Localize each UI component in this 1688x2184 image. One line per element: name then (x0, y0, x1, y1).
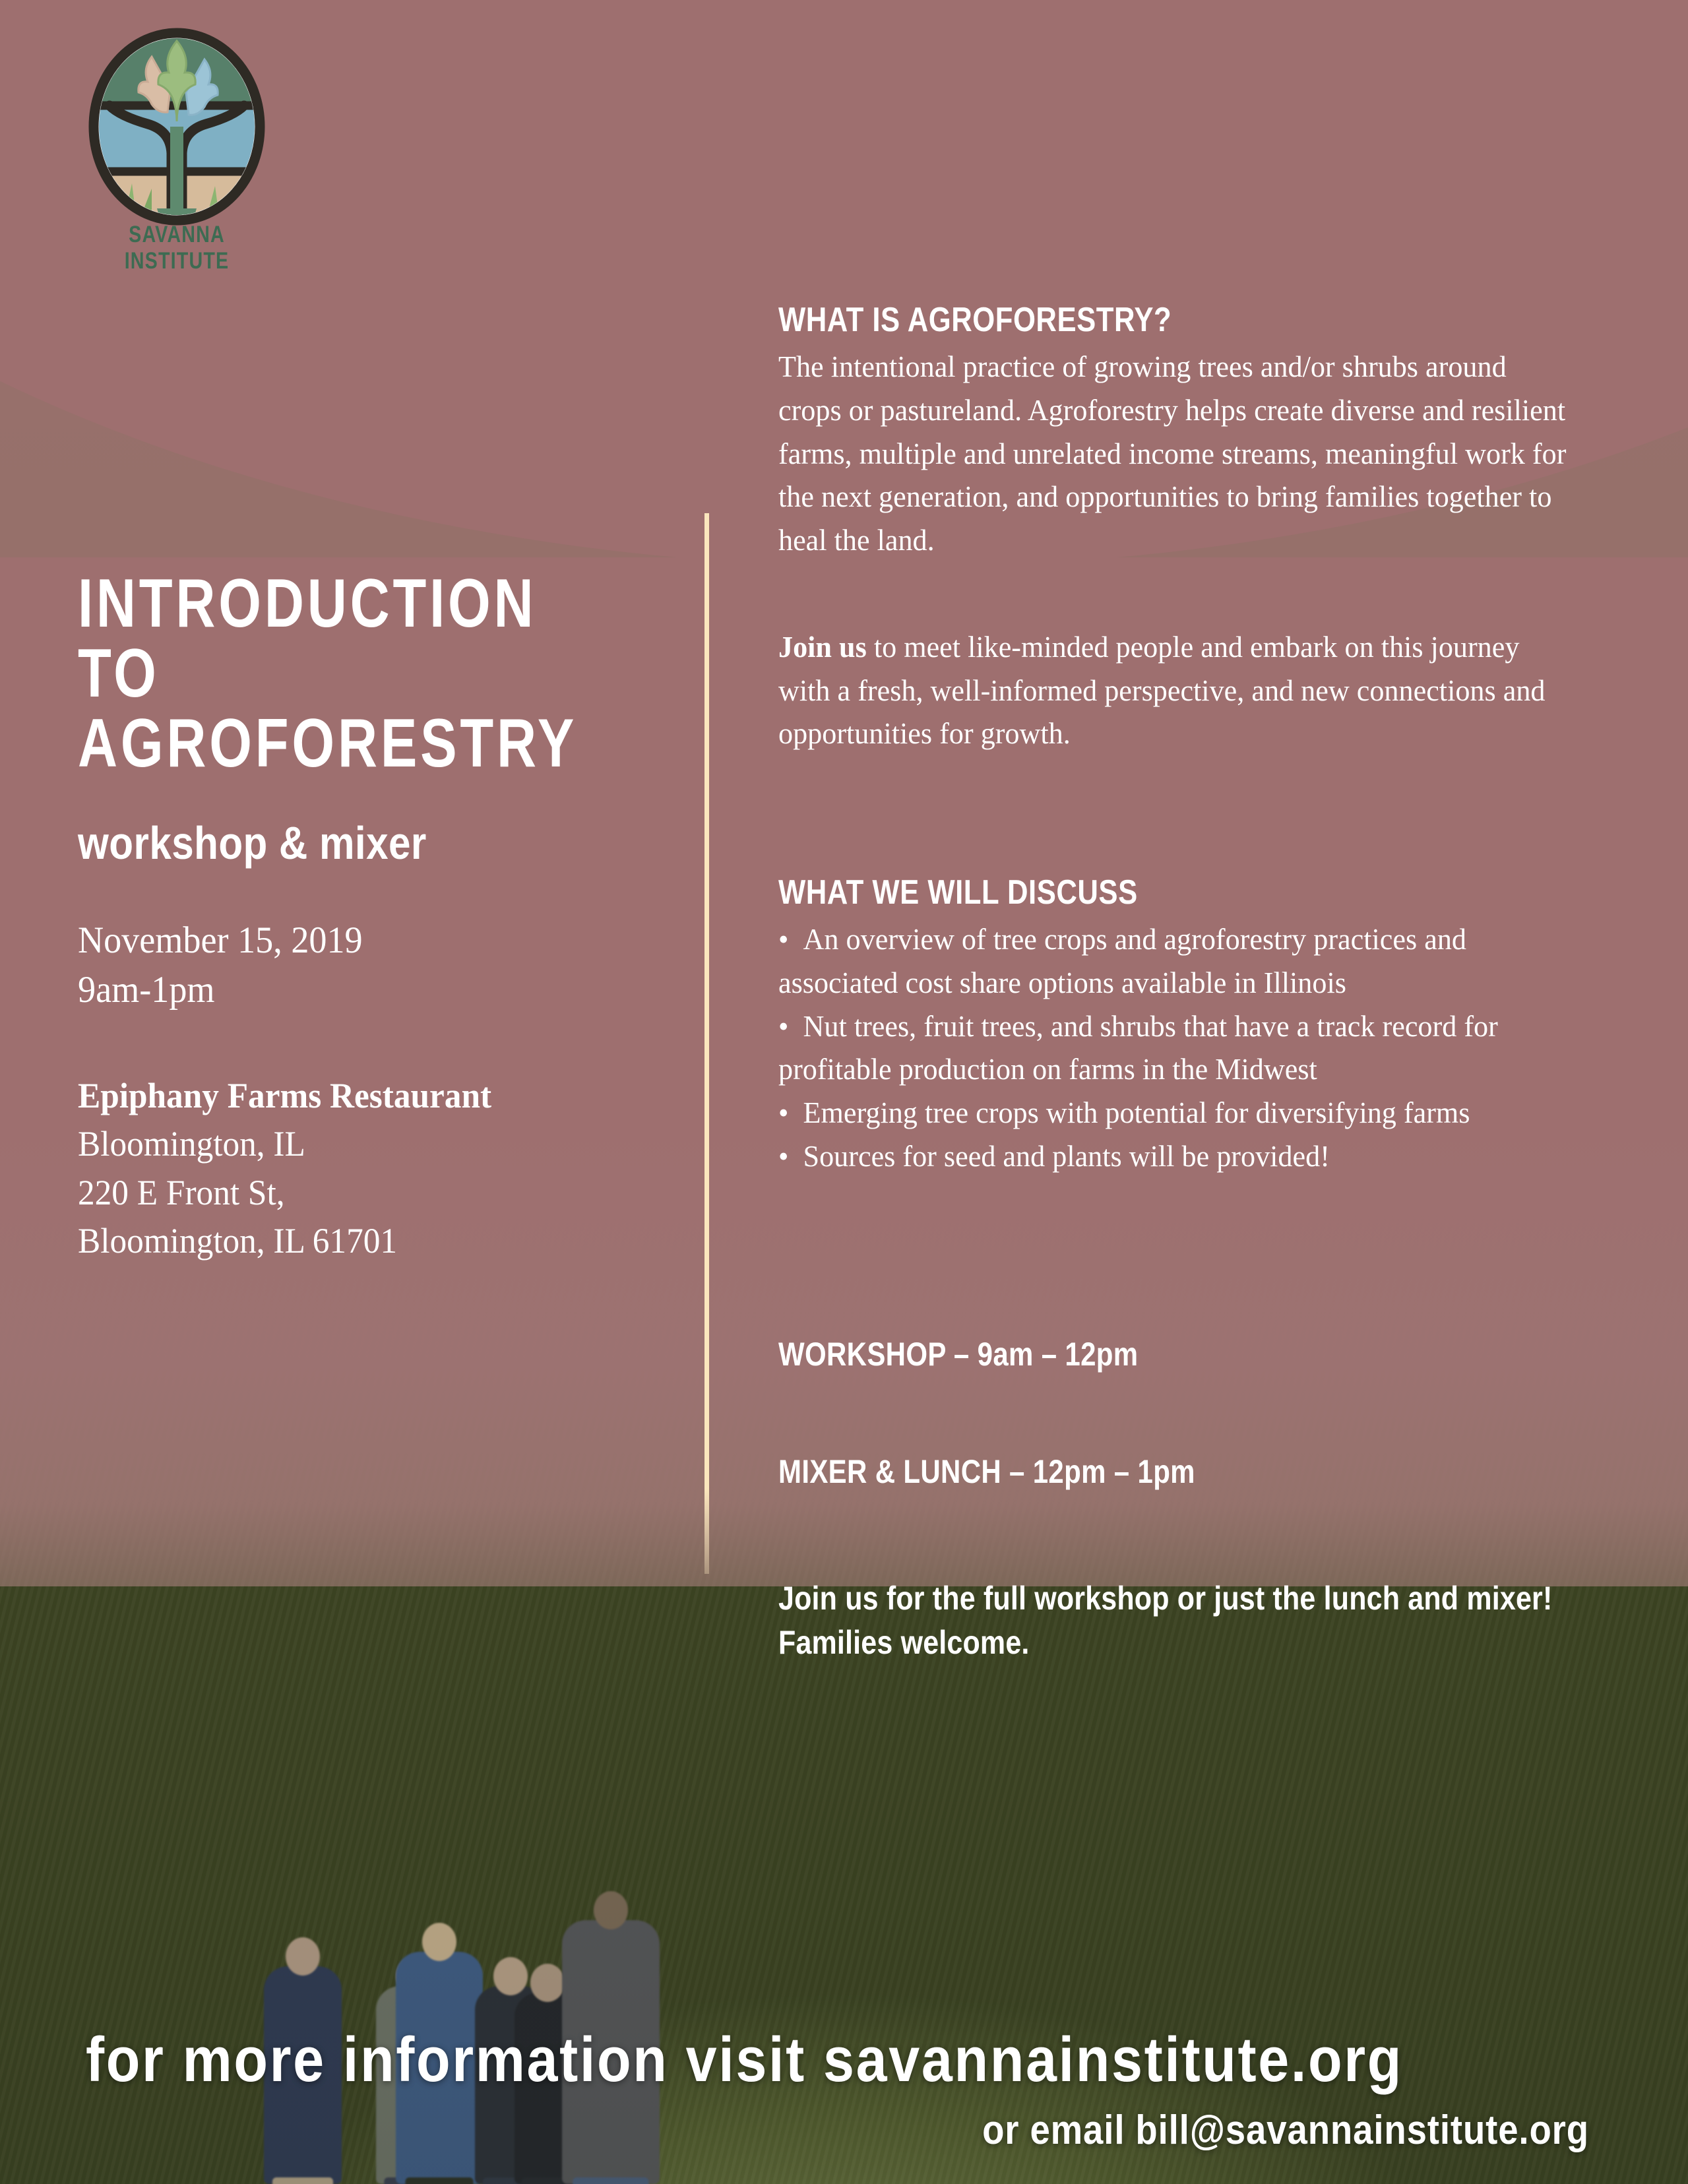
right-column: WHAT IS AGROFORESTRY? The intentional pr… (778, 300, 1603, 1665)
footer: for more information visit savannainstit… (0, 2024, 1688, 2154)
schedule-workshop: WORKSHOP – 9am – 12pm (778, 1335, 1471, 1373)
savanna-institute-logo[interactable]: SAVANNA INSTITUTE (78, 28, 276, 274)
left-column: INTRODUCTION TO AGROFORESTRY workshop & … (78, 569, 672, 1265)
event-datetime: November 15, 2019 9am-1pm (78, 916, 642, 1014)
section-body-what-is-agroforestry: The intentional practice of growing tree… (778, 345, 1570, 562)
join-us-body: to meet like-minded people and embark on… (778, 630, 1545, 751)
footer-email-line[interactable]: or email bill@savannainstitute.org (191, 2107, 1589, 2154)
venue-street: 220 E Front St, (78, 1169, 642, 1217)
page-title: INTRODUCTION TO AGROFORESTRY (78, 569, 553, 778)
join-us-paragraph: Join us to meet like-minded people and e… (778, 625, 1570, 755)
section-heading-what-we-will-discuss: WHAT WE WILL DISCUSS (778, 873, 1471, 912)
logo-wordmark: SAVANNA INSTITUTE (96, 222, 258, 274)
poster-canvas: SAVANNA INSTITUTE INTRODUCTION TO AGROFO… (0, 0, 1688, 2184)
venue-name: Epiphany Farms Restaurant (78, 1072, 642, 1120)
list-item: Sources for seed and plants will be prov… (778, 1135, 1570, 1178)
event-subtitle: workshop & mixer (78, 817, 588, 869)
list-item: Nut trees, fruit trees, and shrubs that … (778, 1005, 1570, 1092)
discussion-bullet-list: An overview of tree crops and agroforest… (778, 918, 1570, 1178)
column-divider (704, 513, 709, 1574)
event-time: 9am-1pm (78, 965, 642, 1014)
join-us-lead: Join us (778, 630, 867, 664)
section-heading-what-is-agroforestry: WHAT IS AGROFORESTRY? (778, 300, 1471, 340)
event-date: November 15, 2019 (78, 916, 642, 965)
venue-citystatezip: Bloomington, IL 61701 (78, 1217, 642, 1265)
list-item: Emerging tree crops with potential for d… (778, 1091, 1570, 1135)
event-venue: Epiphany Farms Restaurant Bloomington, I… (78, 1072, 642, 1266)
footer-website-line[interactable]: for more information visit savannainstit… (86, 2024, 1496, 2096)
venue-city: Bloomington, IL (78, 1120, 642, 1168)
list-item: An overview of tree crops and agroforest… (778, 918, 1570, 1005)
savanna-institute-tree-logo-icon (88, 28, 265, 226)
schedule-mixer-lunch: MIXER & LUNCH – 12pm – 1pm (778, 1452, 1471, 1491)
closing-note: Join us for the full workshop or just th… (778, 1576, 1590, 1665)
